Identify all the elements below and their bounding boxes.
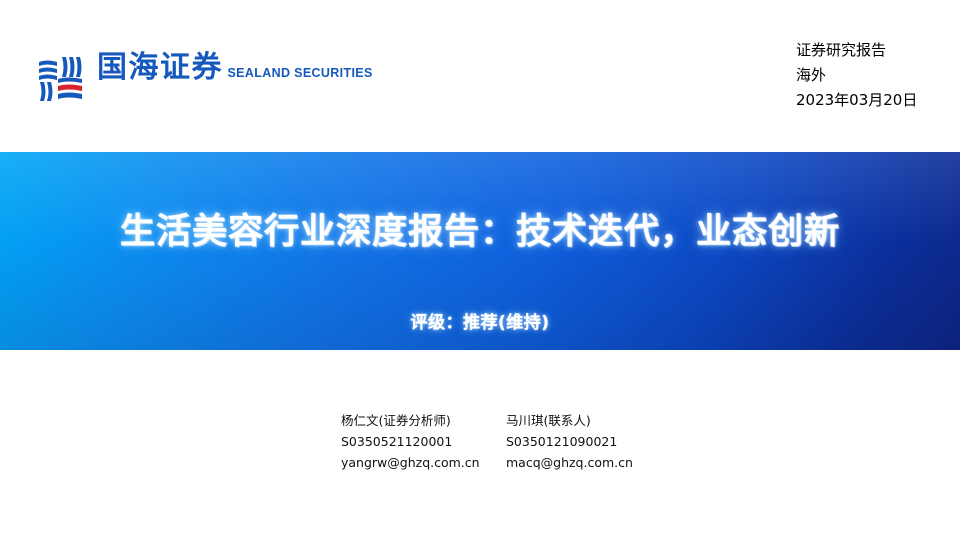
author-name: 马川琪(联系人) [506,410,671,431]
report-region-label: 海外 [796,63,946,88]
author-column: 杨仁文(证券分析师) S0350521120001 yangrw@ghzq.co… [341,410,506,473]
report-title: 生活美容行业深度报告：技术迭代，业态创新 [0,210,960,254]
author-license-number: S0350121090021 [506,431,671,452]
author-name: 杨仁文(证券分析师) [341,410,506,431]
report-cover-slide: 国海证券 SEALAND SECURITIES 证券研究报告 海外 2023年0… [0,0,960,540]
author-email[interactable]: yangrw@ghzq.com.cn [341,452,506,473]
author-email[interactable]: macq@ghzq.com.cn [506,452,671,473]
cover-header: 国海证券 SEALAND SECURITIES 证券研究报告 海外 2023年0… [0,0,960,152]
report-type-label: 证券研究报告 [796,38,946,63]
author-block: 杨仁文(证券分析师) S0350521120001 yangrw@ghzq.co… [341,410,671,473]
brand-wordmark: 国海证券 SEALAND SECURITIES [97,52,373,84]
brand-name-cn: 国海证券 [97,50,223,85]
report-rating: 评级：推荐(维持) [0,312,960,334]
author-license-number: S0350521120001 [341,431,506,452]
brand-logo: 国海证券 SEALAND SECURITIES [36,52,373,104]
author-column: 马川琪(联系人) S0350121090021 macq@ghzq.com.cn [506,410,671,473]
report-date-label: 2023年03月20日 [796,88,946,113]
brand-name-en: SEALAND SECURITIES [227,66,372,80]
report-meta: 证券研究报告 海外 2023年03月20日 [796,38,946,113]
sealand-securities-logo-mark [36,54,86,104]
title-banner: 生活美容行业深度报告：技术迭代，业态创新 评级：推荐(维持) [0,152,960,350]
